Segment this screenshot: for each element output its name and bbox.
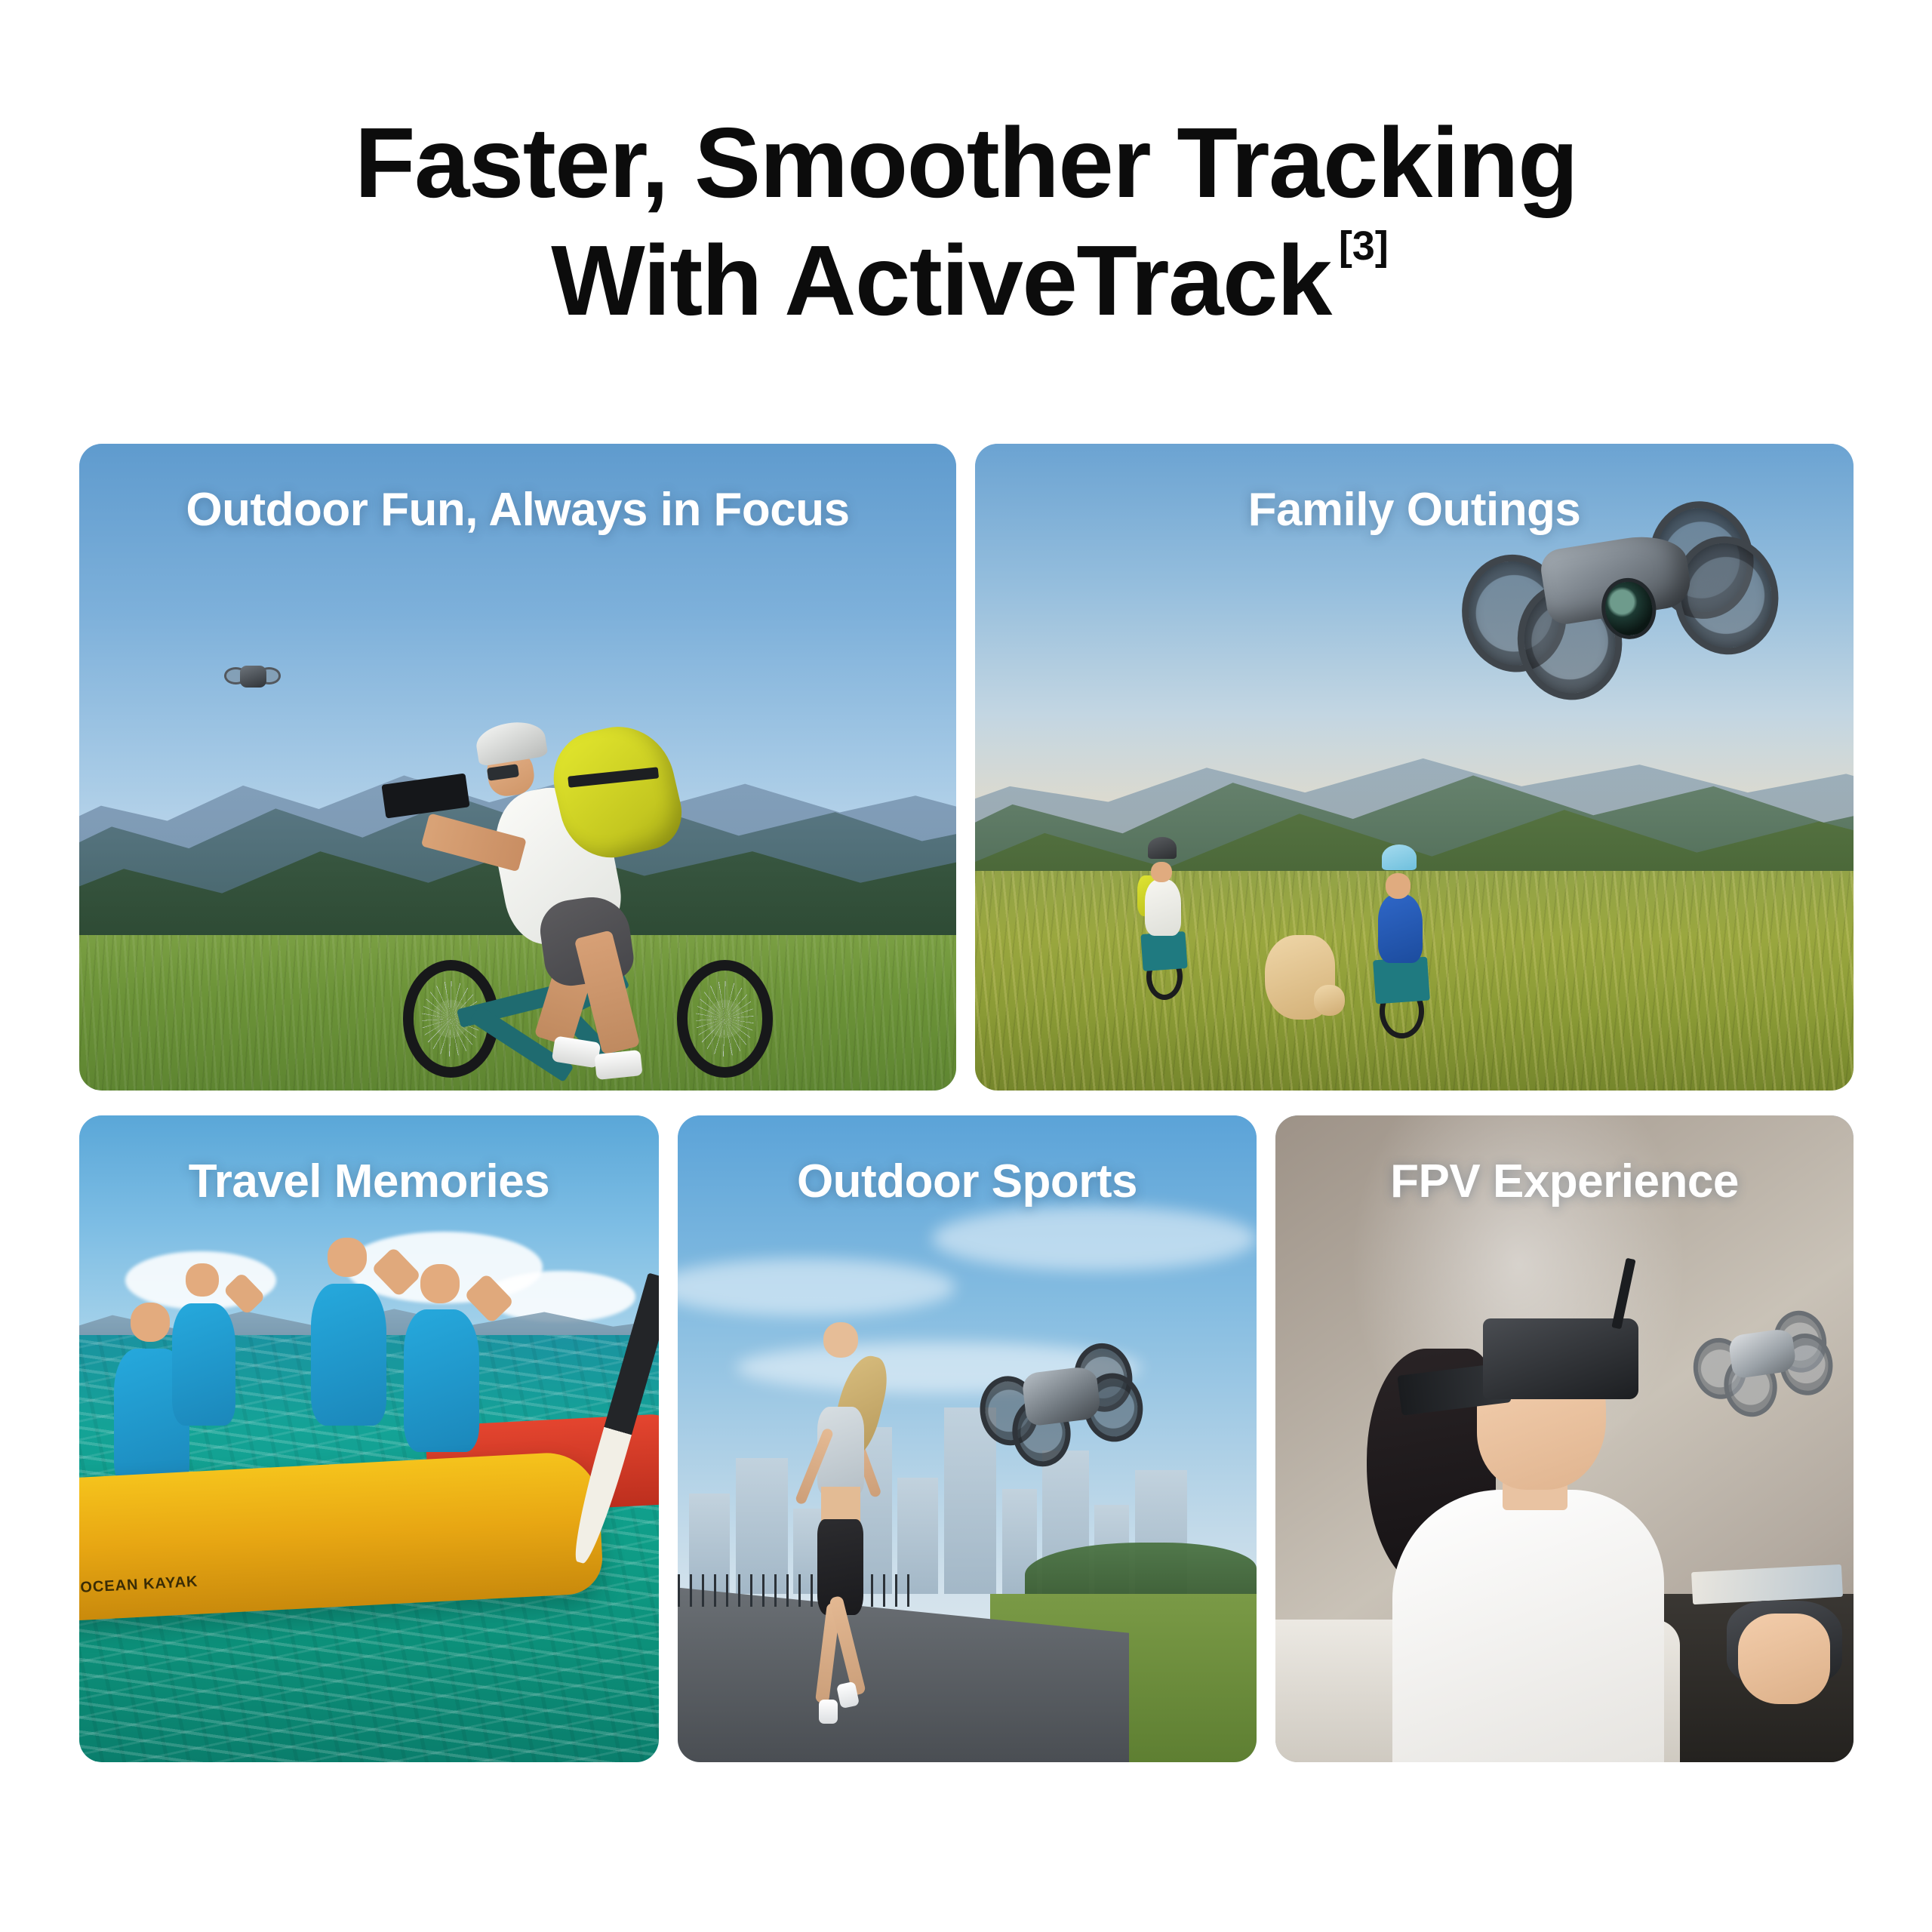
- child-helmet: [1382, 844, 1417, 871]
- scene-mountain-cyclist: [79, 444, 956, 1091]
- paddler-adult-male: [311, 1284, 386, 1426]
- feature-card-outdoor-fun[interactable]: Outdoor Fun, Always in Focus: [79, 444, 956, 1091]
- feature-card-outdoor-sports[interactable]: Outdoor Sports: [678, 1115, 1257, 1762]
- paddler-head: [420, 1264, 460, 1303]
- feature-card-travel-memories[interactable]: malibu two: [79, 1115, 659, 1762]
- feature-page: Faster, Smoother Tracking With ActiveTra…: [0, 0, 1932, 1932]
- white-tshirt: [1392, 1490, 1664, 1762]
- paddler-head: [131, 1303, 170, 1342]
- runner-figure: [793, 1322, 891, 1723]
- adult-helmet: [1148, 837, 1177, 859]
- runner-head: [823, 1322, 859, 1358]
- bike-frame: [1373, 957, 1430, 1004]
- life-vest: [404, 1309, 479, 1452]
- tracking-drone: [974, 1339, 1146, 1455]
- child-cyclist: [1353, 838, 1450, 1039]
- scene-family-cycling: [975, 444, 1854, 1091]
- bike-handlebar: [381, 773, 470, 818]
- cyclist-helmet: [473, 718, 548, 768]
- adult-cyclist: [1124, 832, 1204, 1000]
- yellow-kayak-hull: OCEAN KAYAK: [79, 1451, 605, 1622]
- pilot-hand: [1738, 1614, 1831, 1704]
- paddler-head: [328, 1238, 367, 1277]
- fpv-pilot-figure: [1380, 1258, 1703, 1762]
- child-head: [1386, 873, 1411, 898]
- bike-frame: [1140, 931, 1187, 971]
- life-vest: [311, 1284, 386, 1426]
- fpv-goggles: [1483, 1318, 1638, 1399]
- cloud-wisp: [678, 1258, 955, 1316]
- cloud-wisp: [932, 1206, 1257, 1271]
- tracking-drone-icon: [224, 663, 281, 691]
- bike-wheel-front: [677, 960, 774, 1078]
- paddler-child-back: [172, 1303, 235, 1426]
- feature-card-family-outings[interactable]: Family Outings: [975, 444, 1854, 1091]
- adult-head: [1151, 862, 1171, 882]
- runner-shoe-left: [819, 1700, 838, 1724]
- cyclist-shoe-front: [595, 1050, 644, 1080]
- golden-retriever-dog: [1265, 935, 1335, 1019]
- scene-running: [678, 1115, 1257, 1762]
- kayak-brand-text: OCEAN KAYAK: [80, 1574, 198, 1597]
- adult-torso: [1145, 879, 1181, 937]
- scene-fpv-indoor: [1275, 1115, 1854, 1762]
- scene-kayaking: malibu two: [79, 1115, 659, 1762]
- cyclist-figure: [395, 651, 780, 1078]
- paddler-adult-female: [404, 1309, 479, 1452]
- drone-body: [1021, 1365, 1102, 1426]
- feature-card-fpv-experience[interactable]: FPV Experience: [1275, 1115, 1854, 1762]
- child-torso: [1378, 894, 1423, 962]
- life-vest: [172, 1303, 235, 1426]
- paddler-head: [186, 1263, 219, 1297]
- drone-body: [240, 666, 266, 688]
- feature-card-grid: Outdoor Fun, Always in Focus: [0, 0, 1932, 1932]
